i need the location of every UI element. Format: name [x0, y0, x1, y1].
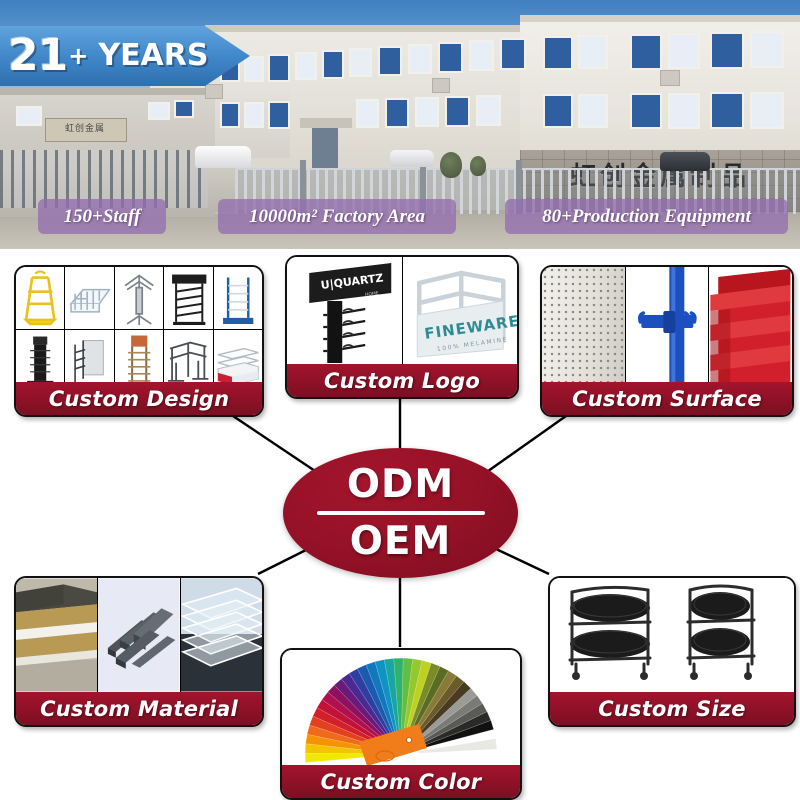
design-thumbnail-grid — [16, 267, 262, 382]
card-label-custom-size: Custom Size — [550, 692, 794, 725]
ac-unit-icon — [432, 78, 450, 93]
window — [440, 44, 461, 71]
years-plus-sign: + — [68, 44, 88, 68]
white-car — [390, 150, 434, 167]
thumb-white-wire-bin-shelf — [65, 267, 114, 329]
card-label-custom-surface: Custom Surface — [542, 382, 792, 415]
card-label-custom-material: Custom Material — [16, 692, 262, 725]
card-label-text: Custom Design — [49, 387, 229, 411]
window — [447, 98, 468, 125]
divider — [317, 511, 485, 515]
window — [417, 99, 437, 125]
window — [580, 37, 606, 67]
material-thumbnails — [16, 578, 262, 692]
card-label-text: Custom Material — [40, 697, 238, 721]
thumb-row — [16, 267, 262, 330]
window — [18, 108, 40, 124]
window — [358, 101, 377, 126]
entrance-door — [312, 128, 338, 170]
entrance-canopy — [300, 118, 352, 128]
ac-unit-icon — [660, 70, 680, 86]
window — [670, 35, 698, 67]
card-custom-logo[interactable]: U|QUARTZ HOME — [285, 255, 519, 399]
white-car — [195, 146, 251, 168]
thumb-yellow-a-frame-rack — [16, 267, 65, 329]
card-label-text: Custom Surface — [572, 387, 762, 411]
card-label-text: Custom Size — [598, 697, 746, 721]
building-roof-right — [520, 15, 800, 22]
window — [270, 56, 288, 80]
card-custom-surface[interactable]: Custom Surface — [540, 265, 794, 417]
window — [150, 104, 168, 118]
factory-photo-banner: 虹创金属 虹创金属制品 21+ YEARS 150+Staff 10000m² … — [0, 0, 800, 249]
card-label-text: Custom Logo — [324, 369, 480, 393]
card-label-text: Custom Color — [321, 770, 482, 794]
window — [632, 36, 660, 68]
thumb-white-pegboard-panel — [542, 267, 626, 382]
window — [387, 100, 407, 126]
window — [632, 95, 660, 127]
tree — [470, 156, 486, 176]
ac-unit-icon — [205, 84, 223, 99]
dark-car — [660, 152, 710, 171]
thumb-fineware-white-display: FINEWARE 100% MELAMINE — [403, 257, 518, 364]
thumb-mdf-laminate-boards — [16, 578, 98, 692]
thumb-blue-floor-rack — [214, 267, 262, 329]
color-thumbnails — [282, 650, 520, 765]
oem-text: OEM — [350, 522, 452, 561]
window — [670, 95, 698, 127]
window — [712, 34, 742, 67]
window — [545, 38, 571, 68]
odm-oem-diagram: Custom Design U|QUARTZ HOME — [0, 249, 800, 800]
logo-thumbnails: U|QUARTZ HOME — [287, 257, 517, 364]
size-thumbnails — [550, 578, 794, 692]
years-banner-text: 21+ YEARS — [8, 28, 223, 84]
window — [712, 94, 742, 127]
card-label-custom-design: Custom Design — [16, 382, 262, 415]
window — [297, 54, 315, 78]
stat-badge-equipment-text: 80+Production Equipment — [542, 206, 751, 228]
card-custom-material[interactable]: Custom Material — [14, 576, 264, 727]
window — [478, 97, 499, 124]
surface-thumbnails — [542, 267, 792, 382]
window — [752, 94, 782, 127]
stat-badge-area-text: 10000m² Factory Area — [249, 206, 425, 228]
color-fan-svg — [282, 650, 520, 765]
window — [176, 102, 192, 116]
window — [246, 58, 262, 80]
years-number: 21 — [8, 34, 67, 78]
thumb-blue-powder-coated-frame — [626, 267, 710, 382]
thumb-red-painted-shelf — [709, 267, 792, 382]
card-custom-design[interactable]: Custom Design — [14, 265, 264, 417]
window — [324, 52, 342, 77]
building-roof-left — [0, 88, 215, 95]
infographic-page: 虹创金属 虹创金属制品 21+ YEARS 150+Staff 10000m² … — [0, 0, 800, 800]
stat-badge-staff-text: 150+Staff — [64, 206, 141, 228]
card-custom-size[interactable]: Custom Size — [548, 576, 796, 727]
window — [410, 46, 430, 72]
thumb-ral-color-fan-swatch — [282, 650, 520, 765]
odm-oem-center-badge[interactable]: ODM OEM — [283, 448, 518, 578]
years-word: YEARS — [98, 41, 208, 71]
stat-badge-area: 10000m² Factory Area — [218, 199, 456, 234]
window — [351, 50, 370, 75]
stat-badge-staff: 150+Staff — [38, 199, 166, 234]
thumb-u-quartz-black-display: U|QUARTZ HOME — [287, 257, 403, 364]
window — [502, 40, 524, 68]
thumb-acrylic-sheets — [181, 578, 262, 692]
card-label-custom-color: Custom Color — [282, 765, 520, 798]
window — [471, 42, 492, 69]
stat-badge-equipment: 80+Production Equipment — [505, 199, 788, 234]
thumb-tire-racks — [550, 578, 794, 692]
thumb-chrome-spinner-stand — [115, 267, 164, 329]
window — [222, 104, 238, 126]
window — [270, 103, 288, 127]
card-custom-color[interactable]: Custom Color — [280, 648, 522, 800]
card-label-custom-logo: Custom Logo — [287, 364, 517, 397]
odm-text: ODM — [347, 465, 454, 504]
gate-plaque-text: 虹创金属 — [48, 120, 122, 138]
window — [545, 96, 571, 126]
thumb-steel-square-tubes — [98, 578, 180, 692]
window — [380, 48, 400, 74]
tree — [440, 152, 462, 178]
window — [246, 104, 262, 126]
window — [752, 33, 782, 66]
window — [580, 96, 606, 126]
thumb-black-tiered-display — [164, 267, 213, 329]
